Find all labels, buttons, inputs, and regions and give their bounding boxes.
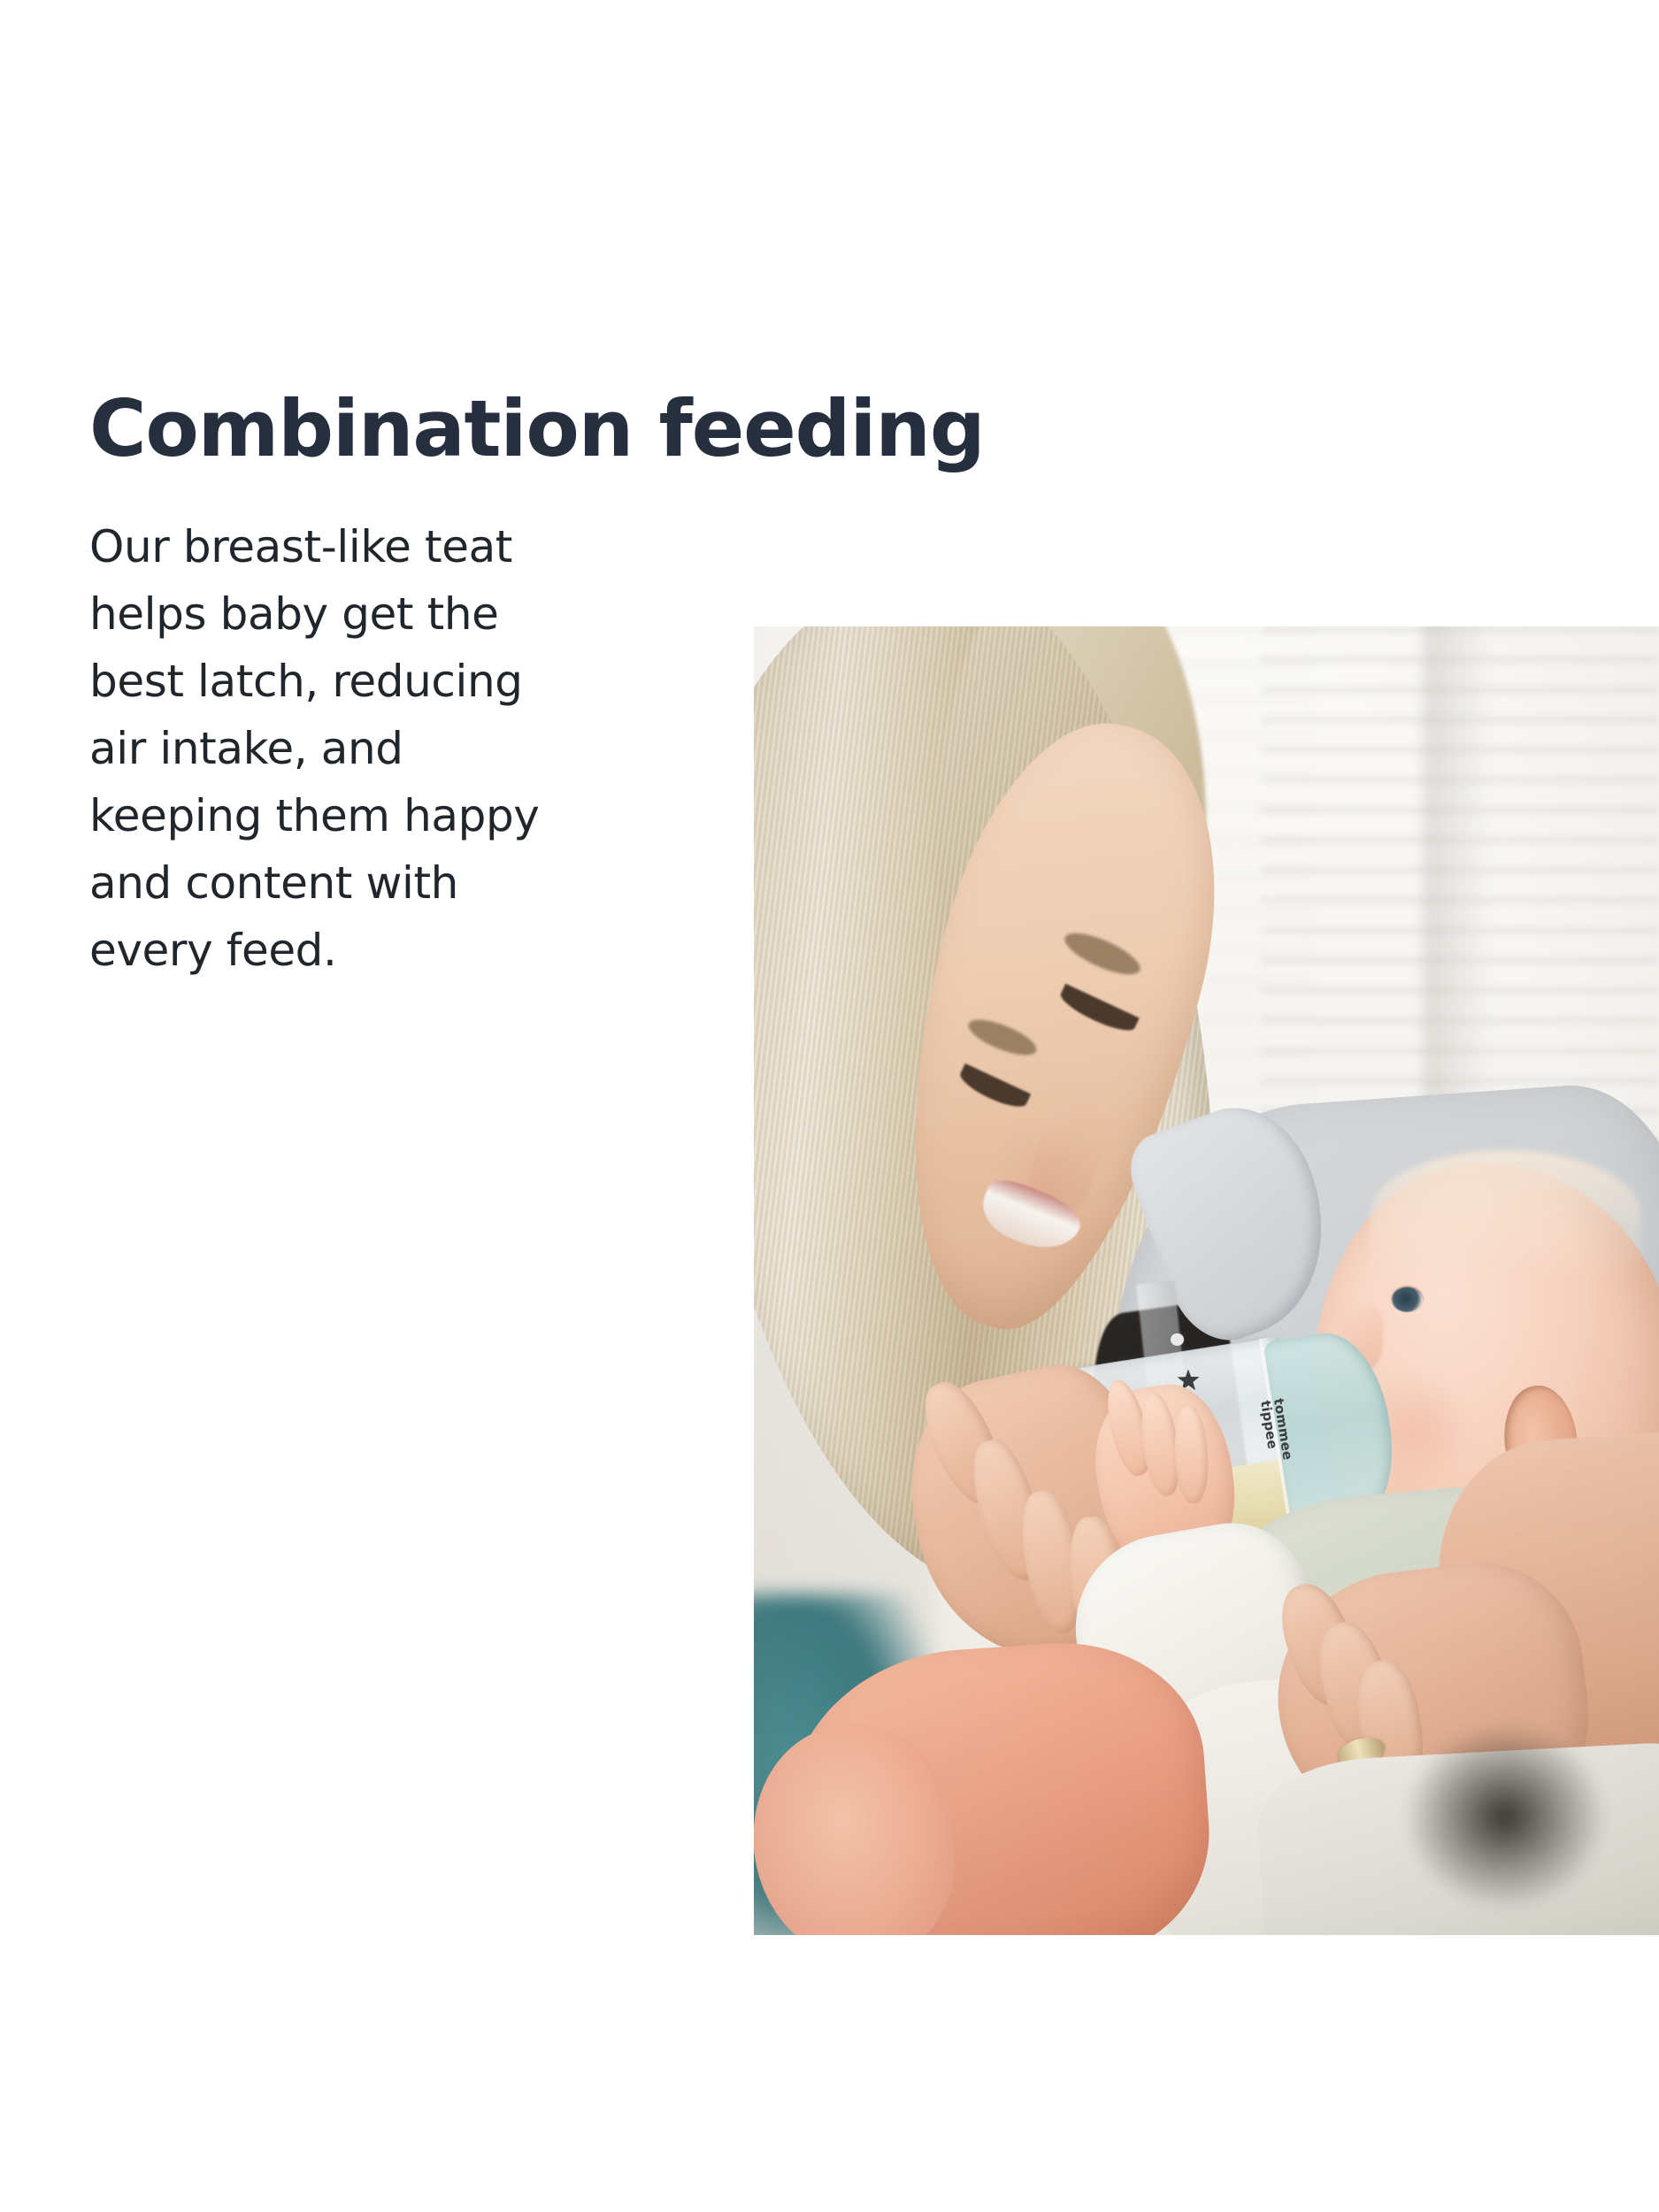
- lifestyle-photo: tommee tippee: [754, 626, 1659, 1935]
- photo-inner: tommee tippee: [754, 626, 1659, 1935]
- page-root: Combination feeding Our breast-like teat…: [0, 0, 1659, 2212]
- photo-shadow: [1406, 1725, 1605, 1909]
- body-paragraph: Our breast-like teat helps baby get the …: [89, 513, 585, 984]
- text-column: Combination feeding Our breast-like teat…: [89, 389, 656, 984]
- page-title: Combination feeding: [89, 389, 656, 469]
- baby-hair: [1370, 1150, 1641, 1281]
- baby-eye: [1392, 1287, 1423, 1312]
